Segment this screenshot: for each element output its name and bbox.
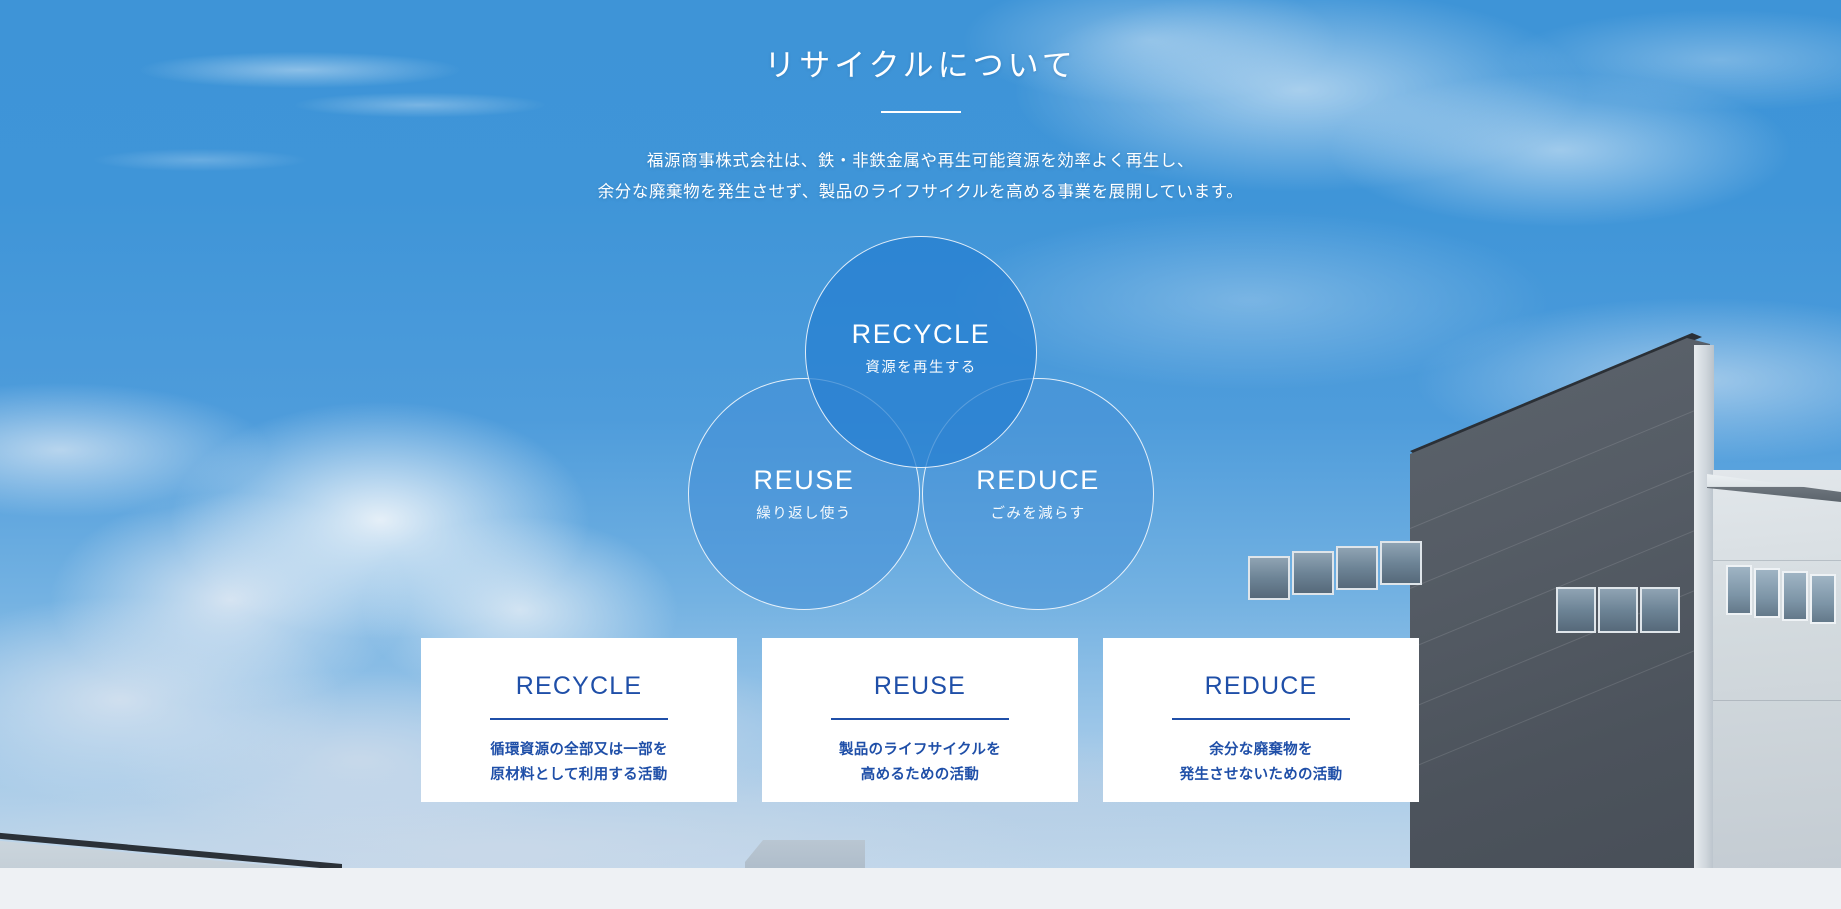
page-title: リサイクルについて <box>0 40 1841 85</box>
card-body-line-1: 余分な廃棄物を <box>1180 738 1343 763</box>
building-window <box>1782 571 1808 621</box>
info-card-reuse[interactable]: REUSE 製品のライフサイクルを 高めるための活動 <box>762 638 1078 802</box>
card-body-line-1: 製品のライフサイクルを <box>839 738 1001 763</box>
title-underline <box>881 111 961 113</box>
venn-circle-recycle[interactable]: RECYCLE 資源を再生する <box>805 236 1037 468</box>
card-title: REDUCE <box>1205 674 1318 699</box>
building-window <box>1556 587 1596 633</box>
building-window <box>1810 574 1836 624</box>
building-window <box>1598 587 1638 633</box>
card-body: 循環資源の全部又は一部を 原材料として利用する活動 <box>490 738 668 788</box>
venn-reduce-sublabel: ごみを減らす <box>990 507 1085 522</box>
venn-recycle-label: RECYCLE <box>852 321 991 348</box>
facade-band <box>1713 560 1841 561</box>
card-divider <box>490 718 668 720</box>
card-title: RECYCLE <box>516 674 643 699</box>
description-line-1: 福源商事株式会社は、鉄・非鉄金属や再生可能資源を効率よく再生し、 <box>0 146 1841 177</box>
info-card-reduce[interactable]: REDUCE 余分な廃棄物を 発生させないための活動 <box>1103 638 1419 802</box>
venn-recycle-sublabel: 資源を再生する <box>865 361 976 376</box>
card-title: REUSE <box>874 674 966 699</box>
card-body: 製品のライフサイクルを 高めるための活動 <box>839 738 1001 788</box>
building-corner-pilaster <box>1694 345 1714 868</box>
building-window <box>1336 546 1378 590</box>
venn-diagram: REUSE 繰り返し使う REDUCE ごみを減らす RECYCLE 資源を再生… <box>688 236 1154 611</box>
building-window <box>1248 556 1290 600</box>
building-window <box>1380 541 1422 585</box>
section-description: 福源商事株式会社は、鉄・非鉄金属や再生可能資源を効率よく再生し、 余分な廃棄物を… <box>0 146 1841 208</box>
card-body-line-2: 発生させないための活動 <box>1180 763 1343 788</box>
facade-band <box>1713 700 1841 701</box>
venn-reuse-sublabel: 繰り返し使う <box>756 507 851 522</box>
section-header: リサイクルについて <box>0 40 1841 113</box>
building-window <box>1726 565 1752 615</box>
card-body-line-2: 原材料として利用する活動 <box>490 763 668 788</box>
footer-band <box>0 868 1841 909</box>
building-window <box>1640 587 1680 633</box>
description-line-2: 余分な廃棄物を発生させず、製品のライフサイクルを高める事業を展開しています。 <box>0 177 1841 208</box>
info-card-recycle[interactable]: RECYCLE 循環資源の全部又は一部を 原材料として利用する活動 <box>421 638 737 802</box>
recycle-section: リサイクルについて 福源商事株式会社は、鉄・非鉄金属や再生可能資源を効率よく再生… <box>0 0 1841 909</box>
info-card-list: RECYCLE 循環資源の全部又は一部を 原材料として利用する活動 REUSE … <box>421 638 1419 802</box>
card-body-line-1: 循環資源の全部又は一部を <box>490 738 668 763</box>
building-window <box>1292 551 1334 595</box>
building-window <box>1754 568 1780 618</box>
building-light-facade <box>1713 470 1841 868</box>
venn-reduce-label: REDUCE <box>976 467 1100 494</box>
card-body: 余分な廃棄物を 発生させないための活動 <box>1180 738 1343 788</box>
card-divider <box>831 718 1009 720</box>
venn-reuse-label: REUSE <box>753 467 854 494</box>
card-body-line-2: 高めるための活動 <box>839 763 1001 788</box>
card-divider <box>1172 718 1350 720</box>
